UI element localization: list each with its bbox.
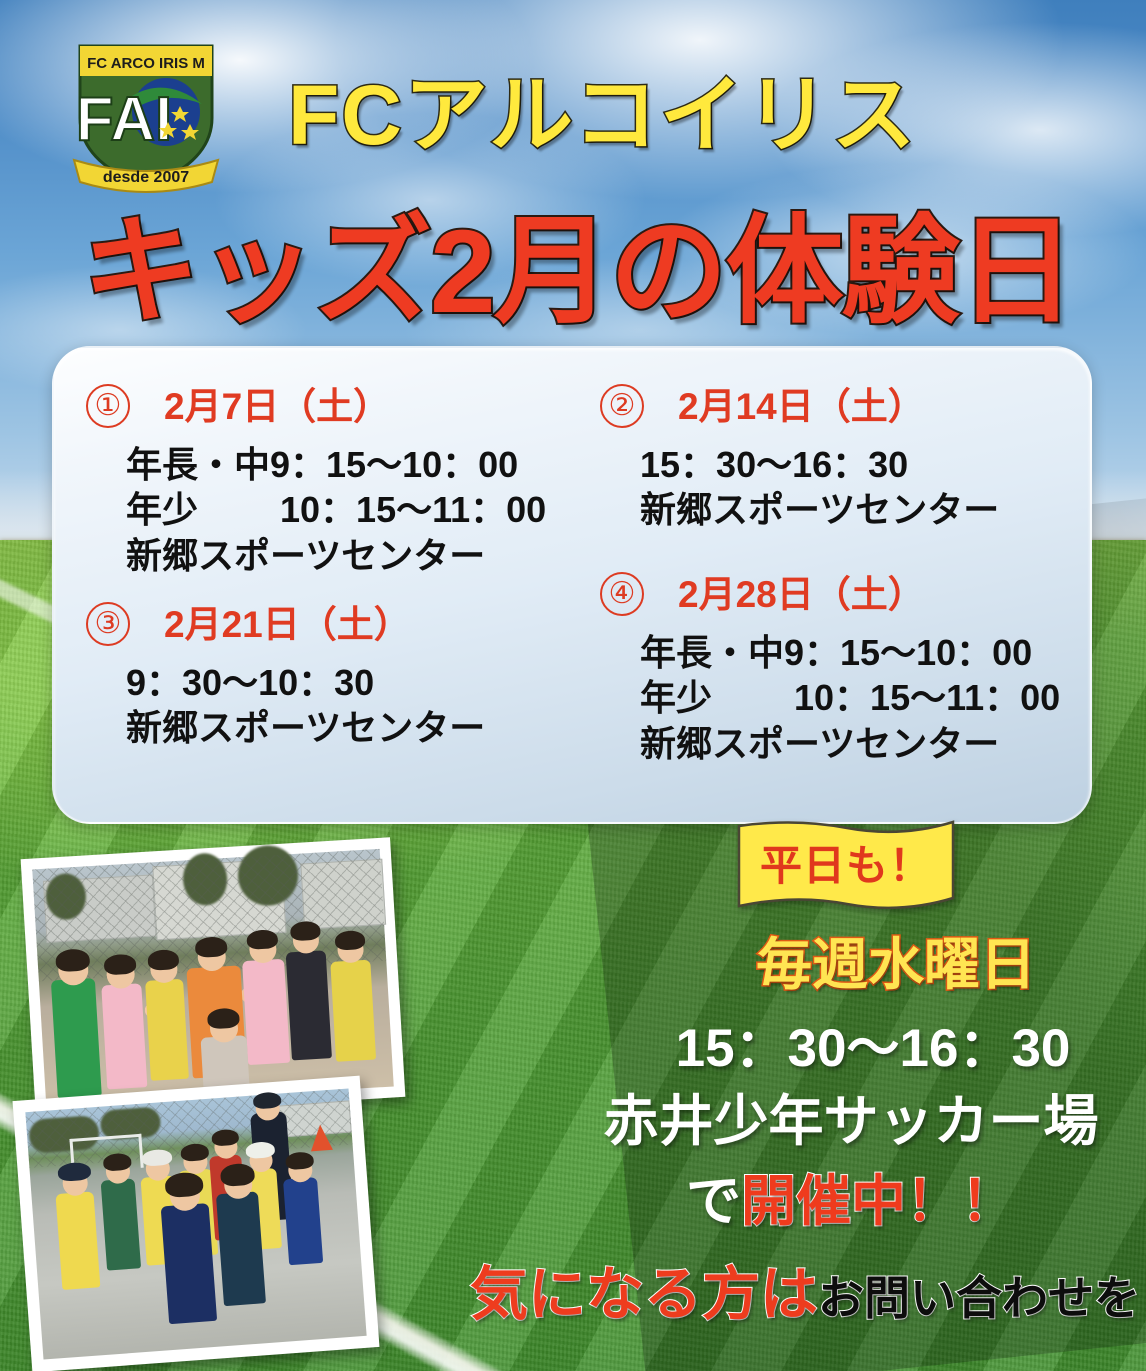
event-line: 年長・中9：15〜10：00	[126, 442, 546, 487]
weekday-time: 15：30〜16：30	[600, 1018, 1146, 1080]
event-body: 15：30〜16：30 新郷スポーツセンター	[600, 442, 999, 533]
event-line: 新郷スポーツセンター	[640, 487, 999, 532]
event-card-1: ①2月7日（土） 年長・中9：15〜10：00 年少 10：15〜11：00 新…	[86, 384, 546, 578]
logo-top-text: FC ARCO IRIS M	[87, 55, 205, 72]
event-date: 2月28日（土）	[678, 576, 925, 613]
contact-cta: 気になる方はお問い合わせを！	[470, 1258, 1146, 1332]
event-line: 15：30〜16：30	[640, 442, 999, 487]
contact-tail: お問い合わせを！	[818, 1272, 1146, 1324]
event-card-4: ④2月28日（土） 年長・中9：15〜10：00 年少 10：15〜11：00 …	[600, 572, 1060, 766]
weekday-venue: 赤井少年サッカー場	[556, 1088, 1146, 1154]
event-card-3: ③2月21日（土） 9：30〜10：30 新郷スポーツセンター	[86, 602, 485, 751]
event-number: ②	[600, 384, 644, 428]
photo-kids-training-image	[25, 1088, 366, 1359]
photo-kids-group-image	[32, 849, 394, 1107]
event-line: 年少 10：15〜11：00	[126, 487, 546, 532]
photo-kids-training	[13, 1076, 380, 1371]
logo-monogram: FAI	[76, 85, 172, 154]
logo-banner-text: desde 2007	[103, 169, 189, 186]
event-header: ④2月28日（土）	[600, 572, 1060, 616]
event-body: 年長・中9：15〜10：00 年少 10：15〜11：00 新郷スポーツセンター	[86, 442, 546, 578]
weekday-holding: で開催中！！	[556, 1168, 1146, 1234]
weekday-day: 毎週水曜日	[686, 932, 1106, 998]
page-title: キッズ2月の体験日	[82, 205, 1082, 340]
event-number: ③	[86, 602, 130, 646]
club-title: FCアルコイリス	[288, 60, 988, 170]
event-date: 2月21日（土）	[164, 606, 411, 643]
event-header: ③2月21日（土）	[86, 602, 485, 646]
event-header: ②2月14日（土）	[600, 384, 999, 428]
event-date: 2月7日（土）	[164, 388, 390, 425]
weekday-ribbon-label: 平日も！	[735, 838, 957, 894]
poster-root: FC ARCO IRIS M FAI desde 2007 FCアルコイリス キ…	[0, 0, 1146, 1371]
event-date: 2月14日（土）	[678, 388, 925, 425]
contact-lead: 気になる方は	[470, 1262, 818, 1327]
weekday-holding-prefix: で	[686, 1170, 741, 1232]
event-body: 年長・中9：15〜10：00 年少 10：15〜11：00 新郷スポーツセンター	[600, 630, 1060, 766]
event-line: 新郷スポーツセンター	[640, 721, 1060, 766]
event-line: 年少 10：15〜11：00	[640, 675, 1060, 720]
event-body: 9：30〜10：30 新郷スポーツセンター	[86, 660, 485, 751]
event-number: ④	[600, 572, 644, 616]
event-header: ①2月7日（土）	[86, 384, 546, 428]
event-line: 9：30〜10：30	[126, 660, 485, 705]
event-line: 年長・中9：15〜10：00	[640, 630, 1060, 675]
event-line: 新郷スポーツセンター	[126, 533, 546, 578]
schedule-panel: ①2月7日（土） 年長・中9：15〜10：00 年少 10：15〜11：00 新…	[52, 346, 1092, 824]
event-number: ①	[86, 384, 130, 428]
club-logo: FC ARCO IRIS M FAI desde 2007	[62, 32, 230, 198]
event-line: 新郷スポーツセンター	[126, 705, 485, 750]
weekday-holding-main: 開催中！！	[741, 1170, 1016, 1232]
event-card-2: ②2月14日（土） 15：30〜16：30 新郷スポーツセンター	[600, 384, 999, 533]
